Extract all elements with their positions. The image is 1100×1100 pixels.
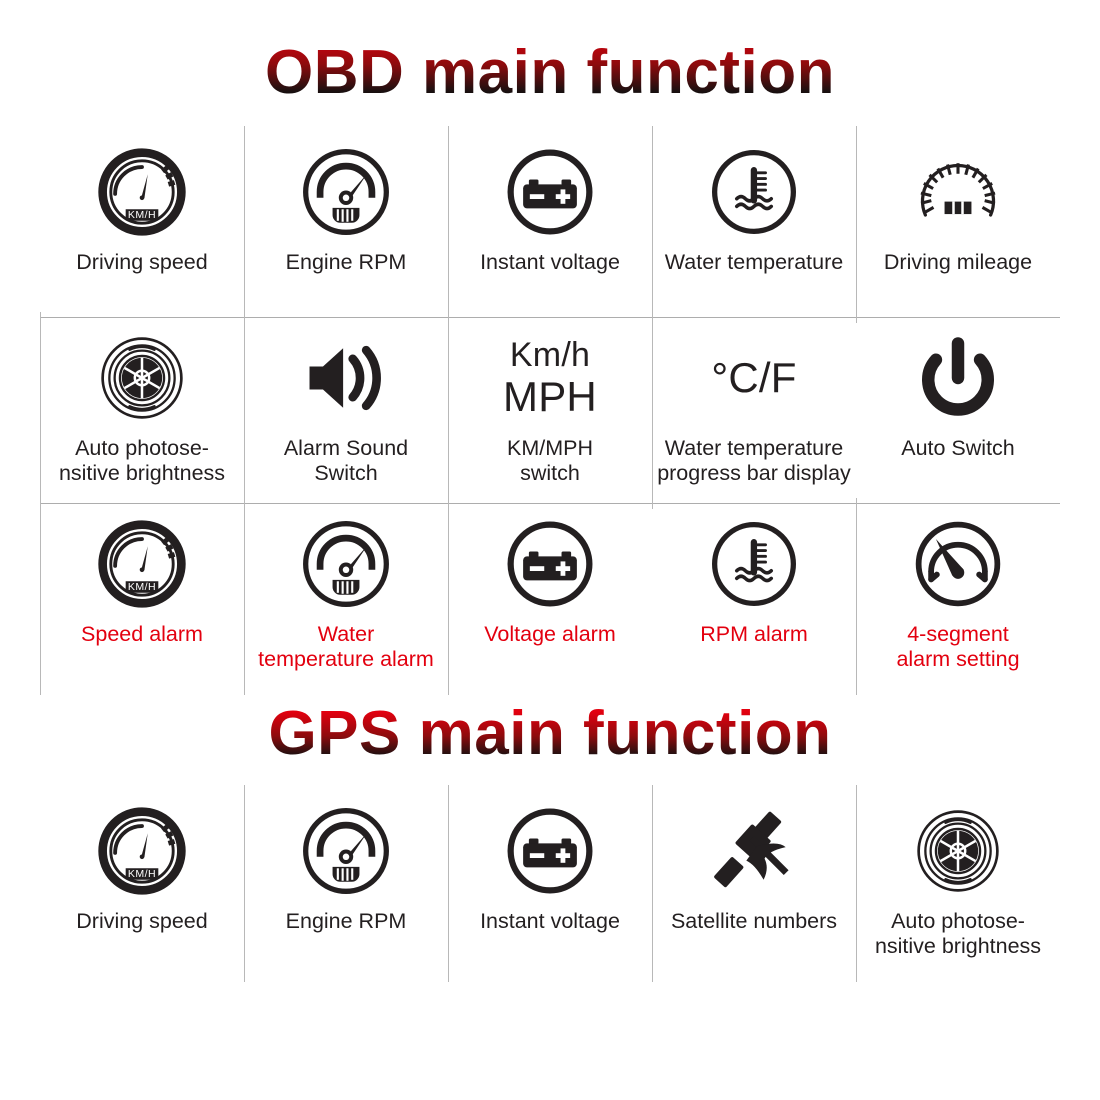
feature-cell[interactable]: Driving mileage — [856, 132, 1060, 317]
feature-label: KM/MPHswitch — [507, 436, 593, 486]
kmh-mph-text: Km/hMPH — [503, 337, 597, 419]
feature-label: Auto Switch — [901, 436, 1015, 461]
feature-cell[interactable]: 4-segmentalarm setting — [856, 504, 1060, 689]
obd-section-title: OBD main function — [0, 0, 1100, 104]
poster-root: OBD main function KM/H Driving speed — [0, 0, 1100, 1100]
feature-label: Speed alarm — [81, 622, 203, 647]
feature-label: Driving speed — [76, 250, 207, 275]
feature-label: Engine RPM — [286, 250, 407, 275]
feature-label: Driving speed — [76, 909, 207, 934]
feature-cell[interactable]: Engine RPM — [244, 132, 448, 317]
rpm-gauge-icon — [298, 803, 394, 899]
aperture-icon — [910, 803, 1006, 899]
rpm-gauge-icon — [298, 516, 394, 612]
feature-label: RPM alarm — [700, 622, 808, 647]
feature-label: Satellite numbers — [671, 909, 837, 934]
svg-text:KM/H: KM/H — [128, 209, 156, 221]
feature-cell[interactable]: RPM alarm — [652, 504, 856, 689]
feature-cell[interactable]: Watertemperature alarm — [244, 504, 448, 689]
feature-cell[interactable]: Auto Switch — [856, 318, 1060, 503]
water-thermometer-icon — [706, 516, 802, 612]
speedometer-icon: KM/H — [94, 803, 190, 899]
celsius-fahrenheit-text: °C/F — [711, 355, 796, 400]
feature-cell[interactable]: KM/H Driving speed — [40, 132, 244, 317]
feature-label: Instant voltage — [480, 250, 620, 275]
feature-label: Watertemperature alarm — [258, 622, 434, 672]
feature-label: 4-segmentalarm setting — [896, 622, 1019, 672]
gps-section-title: GPS main function — [0, 689, 1100, 765]
feature-cell[interactable]: Voltage alarm — [448, 504, 652, 689]
feature-label: Engine RPM — [286, 909, 407, 934]
speedometer-icon: KM/H — [94, 516, 190, 612]
feature-cell[interactable]: Auto photose-nsitive brightness — [856, 791, 1060, 976]
rpm-gauge-icon — [298, 144, 394, 240]
satellite-icon — [706, 803, 802, 899]
celsius-fahrenheit-text-icon: °C/F — [711, 330, 796, 426]
feature-cell[interactable]: Satellite numbers — [652, 791, 856, 976]
feature-label: Water temperature — [665, 250, 843, 275]
feature-cell[interactable]: °C/F Water temperatureprogress bar displ… — [652, 318, 856, 503]
svg-text:KM/H: KM/H — [128, 868, 156, 880]
feature-cell[interactable]: Instant voltage — [448, 791, 652, 976]
odometer-dial-icon — [910, 144, 1006, 240]
obd-feature-grid: KM/H Driving speed Engine RPM — [40, 132, 1060, 689]
feature-cell[interactable]: Instant voltage — [448, 132, 652, 317]
svg-text:KM/H: KM/H — [128, 581, 156, 593]
needle-gauge-icon — [910, 516, 1006, 612]
feature-label: Auto photose-nsitive brightness — [875, 909, 1041, 959]
feature-cell[interactable]: KM/H Speed alarm — [40, 504, 244, 689]
gps-feature-grid: KM/H Driving speed Engine RPM — [40, 791, 1060, 976]
feature-cell[interactable]: Km/hMPH KM/MPHswitch — [448, 318, 652, 503]
water-thermometer-icon — [706, 144, 802, 240]
battery-icon — [502, 803, 598, 899]
power-icon — [910, 330, 1006, 426]
feature-cell[interactable]: Auto photose-nsitive brightness — [40, 318, 244, 503]
feature-cell[interactable]: Alarm SoundSwitch — [244, 318, 448, 503]
feature-cell[interactable]: Engine RPM — [244, 791, 448, 976]
feature-label: Auto photose-nsitive brightness — [59, 436, 225, 486]
feature-cell[interactable]: KM/H Driving speed — [40, 791, 244, 976]
feature-label: Voltage alarm — [484, 622, 615, 647]
aperture-icon — [94, 330, 190, 426]
feature-cell[interactable]: Water temperature — [652, 132, 856, 317]
feature-label: Instant voltage — [480, 909, 620, 934]
kmh-mph-text-icon: Km/hMPH — [503, 330, 597, 426]
speaker-icon — [298, 330, 394, 426]
feature-label: Alarm SoundSwitch — [284, 436, 408, 486]
battery-icon — [502, 516, 598, 612]
speedometer-icon: KM/H — [94, 144, 190, 240]
feature-label: Driving mileage — [884, 250, 1032, 275]
battery-icon — [502, 144, 598, 240]
feature-label: Water temperatureprogress bar display — [657, 436, 851, 486]
